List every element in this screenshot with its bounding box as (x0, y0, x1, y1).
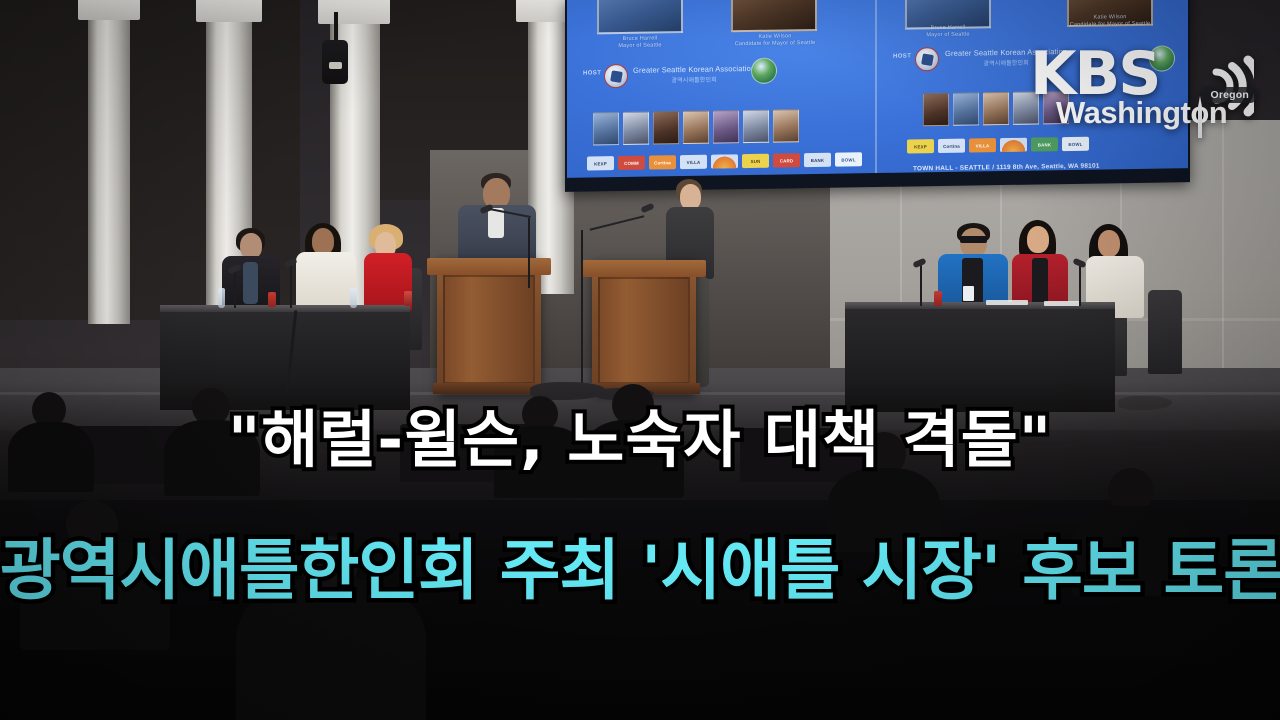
participant-avatar (983, 92, 1009, 125)
column-capital (78, 0, 140, 20)
association-name-ko: 광역시애틀한인회 (633, 74, 755, 85)
slide-left: Bruce Harrell Mayor of Seattle Katie Wil… (571, 0, 871, 178)
sponsor-logo: VILLA (680, 155, 707, 169)
candidate-caption: Bruce Harrell Mayor of Seattle (901, 24, 995, 39)
candidate-caption: Katie Wilson Candidate for Mayor of Seat… (1063, 14, 1157, 29)
host-label: HOST (893, 53, 911, 59)
broadcast-frame: Bruce Harrell Mayor of Seattle Katie Wil… (0, 0, 1280, 720)
participant-avatar (953, 92, 979, 125)
sponsor-logo: SUN (742, 154, 769, 168)
podium-body (443, 275, 535, 384)
slide-divider (875, 0, 877, 173)
name-badge (963, 286, 974, 301)
participant-avatar (743, 110, 769, 143)
table-top (160, 305, 410, 312)
candidate-name: Katie Wilson (1094, 14, 1127, 21)
participant-avatar (713, 110, 739, 143)
sponsor-logo: Cortina (649, 155, 676, 169)
podium-left (437, 258, 541, 394)
globe-seal-icon (751, 58, 777, 84)
association-name-en: Greater Seattle Korean Association (633, 64, 755, 75)
candidate-photo (597, 0, 683, 34)
candidate-name: Bruce Harrell (623, 35, 658, 42)
microphone-stand (920, 262, 922, 306)
caption-line-1: "해럴-윌슨, 노숙자 대책 격돌" (0, 402, 1280, 478)
sponsor-logo: COMM (618, 156, 645, 170)
participant-avatar (773, 109, 799, 142)
sponsor-logo: BOWL (1062, 137, 1089, 151)
sponsor-logo (711, 154, 738, 168)
candidate-photo (731, 0, 817, 32)
sponsor-logo: VILLA (969, 138, 996, 152)
sponsor-logo: KEXP (907, 139, 934, 153)
venue-address: TOWN HALL - SEATTLE / 1119 8th Ave, Seat… (601, 175, 788, 177)
region-badge: Oregon (1201, 87, 1258, 103)
eyeglasses-icon (960, 236, 987, 243)
drink-can (268, 292, 276, 307)
candidate-title: Mayor of Seattle (618, 42, 661, 49)
water-bottle (218, 288, 225, 308)
column (88, 0, 130, 324)
candidate-name: Katie Wilson (759, 33, 792, 40)
candidate-title: Candidate for Mayor of Seattle (1070, 21, 1151, 28)
participant-avatar (653, 111, 679, 144)
host-label: HOST (583, 70, 601, 76)
sponsor-logo: BANK (1031, 137, 1058, 151)
venue-address: TOWN HALL - SEATTLE / 1119 8th Ave, Seat… (913, 163, 1100, 173)
candidate-title: Mayor of Seattle (926, 32, 969, 39)
microphone-stand (290, 262, 292, 308)
podium-top (427, 258, 551, 275)
sponsor-logo (1000, 138, 1027, 152)
participant-avatar-row (593, 109, 799, 145)
column-capital (196, 0, 262, 22)
podium-right (592, 260, 696, 394)
sponsor-logo: BOWL (835, 152, 862, 166)
candidate-title: Candidate for Mayor of Seattle (735, 40, 816, 47)
sponsor-logo: CARD (773, 153, 800, 167)
drink-can (934, 291, 942, 306)
head (1098, 230, 1120, 257)
sponsor-logo: BANK (804, 153, 831, 167)
microphone-stand (1079, 262, 1081, 306)
document-paper (1044, 301, 1080, 306)
candidate-caption: Katie Wilson Candidate for Mayor of Seat… (728, 33, 822, 48)
sponsor-logo: KEXP (587, 156, 614, 170)
microphone-stand (581, 230, 583, 392)
participant-avatar (623, 112, 649, 145)
sponsor-logo-row: KEXP Cortina VILLA BANK BOWL (907, 137, 1089, 154)
caption-line-2: 광역시애틀한인회 주최 '시애틀 시장' 후보 토론회 개최 (0, 530, 1280, 612)
water-bottle (350, 288, 357, 308)
torso (296, 252, 356, 312)
head (1027, 226, 1049, 253)
candidate-caption: Bruce Harrell Mayor of Seattle (593, 35, 687, 50)
channel-logo: KBS Washington Oregon (1022, 44, 1262, 136)
sponsor-logo-row: KEXP COMM Cortina VILLA SUN CARD BANK BO… (587, 152, 862, 170)
microphone-stand (234, 268, 236, 308)
drink-can (404, 291, 412, 306)
spotlight-lens (329, 62, 342, 69)
column-capital (318, 0, 390, 24)
participant-avatar (593, 112, 619, 145)
candidate-name: Bruce Harrell (931, 25, 966, 32)
participant-avatar (923, 93, 949, 126)
panel-chair (1148, 290, 1182, 374)
podium-top (582, 260, 706, 277)
inner-shirt (243, 262, 258, 304)
podium-body (598, 277, 690, 384)
microphone-stand (528, 218, 530, 288)
wall-seam (1222, 120, 1224, 400)
document-paper (986, 300, 1028, 305)
participant-avatar (683, 111, 709, 144)
association-name: Greater Seattle Korean Association 광역시애틀… (633, 64, 755, 85)
association-seal-icon (915, 47, 939, 71)
association-seal-icon (604, 64, 628, 88)
head (312, 228, 334, 255)
sponsor-logo: Cortina (938, 139, 965, 153)
